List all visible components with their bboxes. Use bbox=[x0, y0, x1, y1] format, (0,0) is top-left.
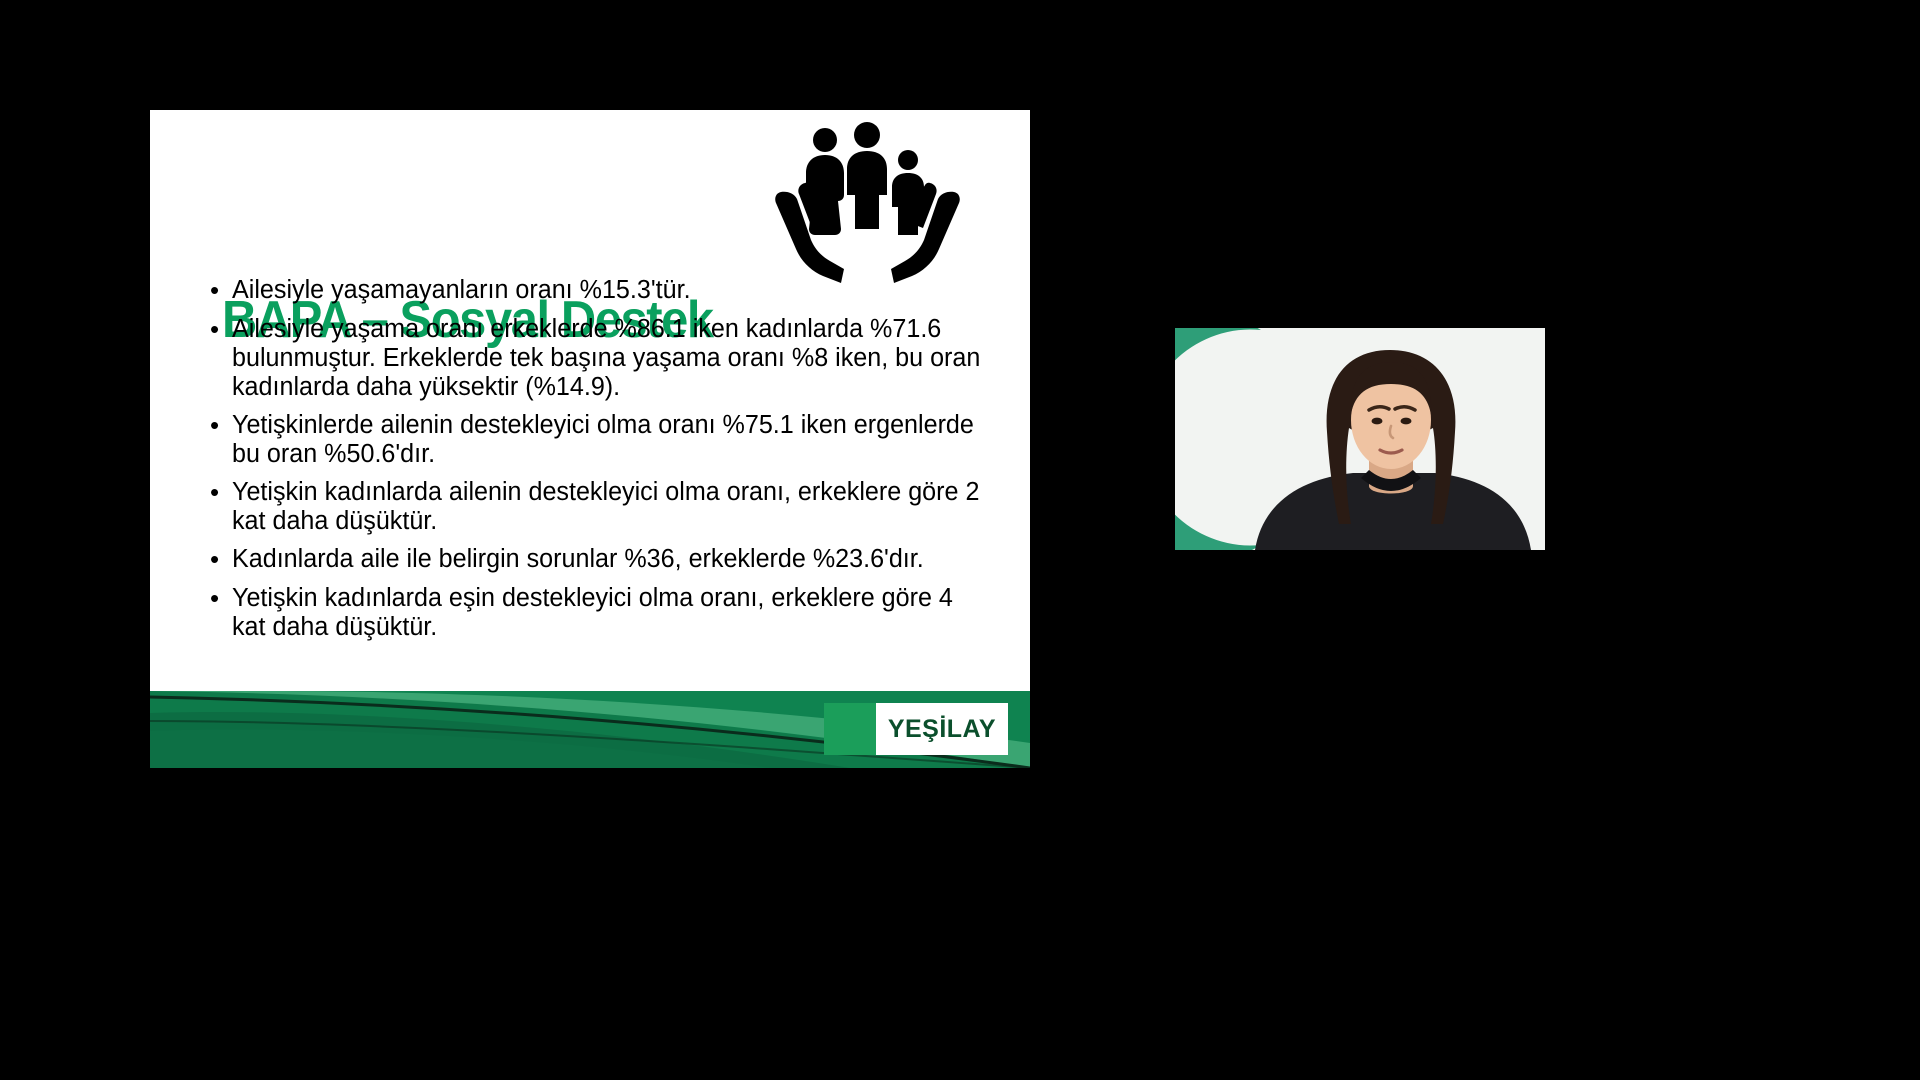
participant-video-tile[interactable] bbox=[1175, 328, 1545, 550]
bullet-list: • Ailesiyle yaşamayanların oranı %15.3't… bbox=[210, 276, 1000, 651]
family-in-hands-icon bbox=[775, 120, 960, 285]
crescent-moon-icon bbox=[824, 703, 876, 755]
bullet-text: Ailesiyle yaşamayanların oranı %15.3'tür… bbox=[232, 276, 988, 306]
yesilay-logo: YEŞİLAY bbox=[824, 703, 1008, 755]
participant-avatar bbox=[1235, 328, 1545, 550]
bullet-marker-icon: • bbox=[210, 584, 232, 642]
list-item: • Yetişkin kadınlarda ailenin destekleyi… bbox=[210, 478, 1000, 536]
list-item: • Yetişkinlerde ailenin destekleyici olm… bbox=[210, 411, 1000, 469]
bullet-text: Yetişkinlerde ailenin destekleyici olma … bbox=[232, 411, 988, 469]
slide-footer: YEŞİLAY bbox=[150, 691, 1030, 768]
bullet-marker-icon: • bbox=[210, 276, 232, 306]
slide-canvas: BAPA – Sosyal Destek bbox=[150, 110, 1030, 768]
bullet-text: Kadınlarda aile ile belirgin sorunlar %3… bbox=[232, 545, 988, 575]
bullet-marker-icon: • bbox=[210, 411, 232, 469]
list-item: • Yetişkin kadınlarda eşin destekleyici … bbox=[210, 584, 1000, 642]
bullet-text: Yetişkin kadınlarda ailenin destekleyici… bbox=[232, 478, 988, 536]
bullet-text: Yetişkin kadınlarda eşin destekleyici ol… bbox=[232, 584, 988, 642]
bullet-text: Ailesiyle yaşama oranı erkeklerde %86.1 … bbox=[232, 315, 988, 402]
list-item: • Ailesiyle yaşamayanların oranı %15.3't… bbox=[210, 276, 1000, 306]
bullet-marker-icon: • bbox=[210, 315, 232, 402]
list-item: • Ailesiyle yaşama oranı erkeklerde %86.… bbox=[210, 315, 1000, 402]
list-item: • Kadınlarda aile ile belirgin sorunlar … bbox=[210, 545, 1000, 575]
bullet-marker-icon: • bbox=[210, 545, 232, 575]
bullet-marker-icon: • bbox=[210, 478, 232, 536]
